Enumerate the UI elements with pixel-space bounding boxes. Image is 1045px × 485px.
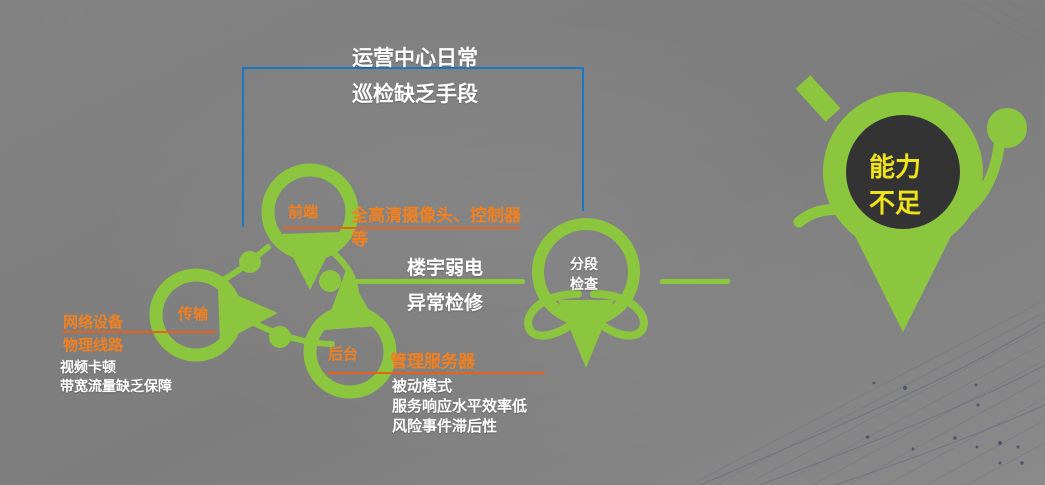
node-front-desc-line-2: 等 xyxy=(351,225,368,250)
title-line-1: 运营中心日常 xyxy=(352,42,478,72)
segment-check-line-2: 检查 xyxy=(570,274,598,294)
front-divider-rule xyxy=(283,227,520,229)
node-front-desc-line-1: 全高清摄像头、控制器 xyxy=(351,201,521,226)
connector-rule xyxy=(660,279,730,284)
node-backend-note-line-1: 被动模式 xyxy=(392,375,452,396)
title-line-2: 巡检缺乏手段 xyxy=(352,78,478,108)
node-backend-note-line-2: 服务响应水平效率低 xyxy=(392,395,527,416)
node-transmission-desc-line-2: 物理线路 xyxy=(63,334,123,355)
title-bracket-leg xyxy=(242,207,244,227)
node-transmission-note-line-1: 视频卡顿 xyxy=(60,357,116,377)
capability-line-1: 能力 xyxy=(869,147,921,184)
slide-canvas: 运营中心日常 巡检缺乏手段 前端 全高清摄像头、控制器 等 传输 网络设备 物理… xyxy=(0,0,1045,485)
node-backend-desc-line-1: 管理服务器 xyxy=(390,347,475,372)
segment-check-line-1: 分段 xyxy=(570,254,598,274)
node-front-label[interactable]: 前端 xyxy=(288,201,318,222)
capability-line-2: 不足 xyxy=(869,183,921,220)
node-transmission-desc-line-1: 网络设备 xyxy=(63,311,123,332)
node-backend-label[interactable]: 后台 xyxy=(328,343,358,364)
node-transmission-label[interactable]: 传输 xyxy=(178,303,208,324)
middle-caption-line-1: 楼宇弱电 xyxy=(407,253,483,280)
node-backend-note-line-3: 风险事件滞后性 xyxy=(392,415,497,436)
backend-divider-rule xyxy=(327,372,545,374)
node-transmission-note-line-2: 带宽流量缺乏保障 xyxy=(60,376,172,396)
middle-caption-line-2: 异常检修 xyxy=(407,288,483,315)
